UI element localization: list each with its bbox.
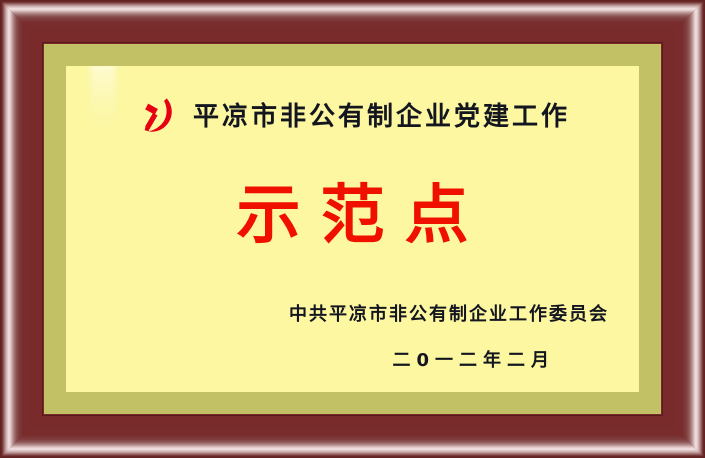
plaque-date: 二0一二年二月	[392, 346, 555, 372]
plaque-issuer: 中共平凉市非公有制企业工作委员会	[289, 300, 609, 326]
award-plaque: 平凉市非公有制企业党建工作 示范点 中共平凉市非公有制企业工作委员会 二0一二年…	[0, 0, 705, 458]
frame-left-bevel	[0, 0, 44, 458]
plaque-title: 平凉市非公有制企业党建工作	[193, 104, 570, 130]
frame-bottom-bevel	[0, 414, 705, 458]
frame-top-bevel	[0, 0, 705, 44]
plaque-title-row: 平凉市非公有制企业党建工作	[66, 96, 639, 138]
frame-right-bevel	[661, 0, 705, 458]
plaque-award-label: 示范点	[66, 184, 639, 248]
hammer-and-sickle-emblem	[135, 94, 179, 138]
plaque-panel: 平凉市非公有制企业党建工作 示范点 中共平凉市非公有制企业工作委员会 二0一二年…	[66, 66, 639, 392]
